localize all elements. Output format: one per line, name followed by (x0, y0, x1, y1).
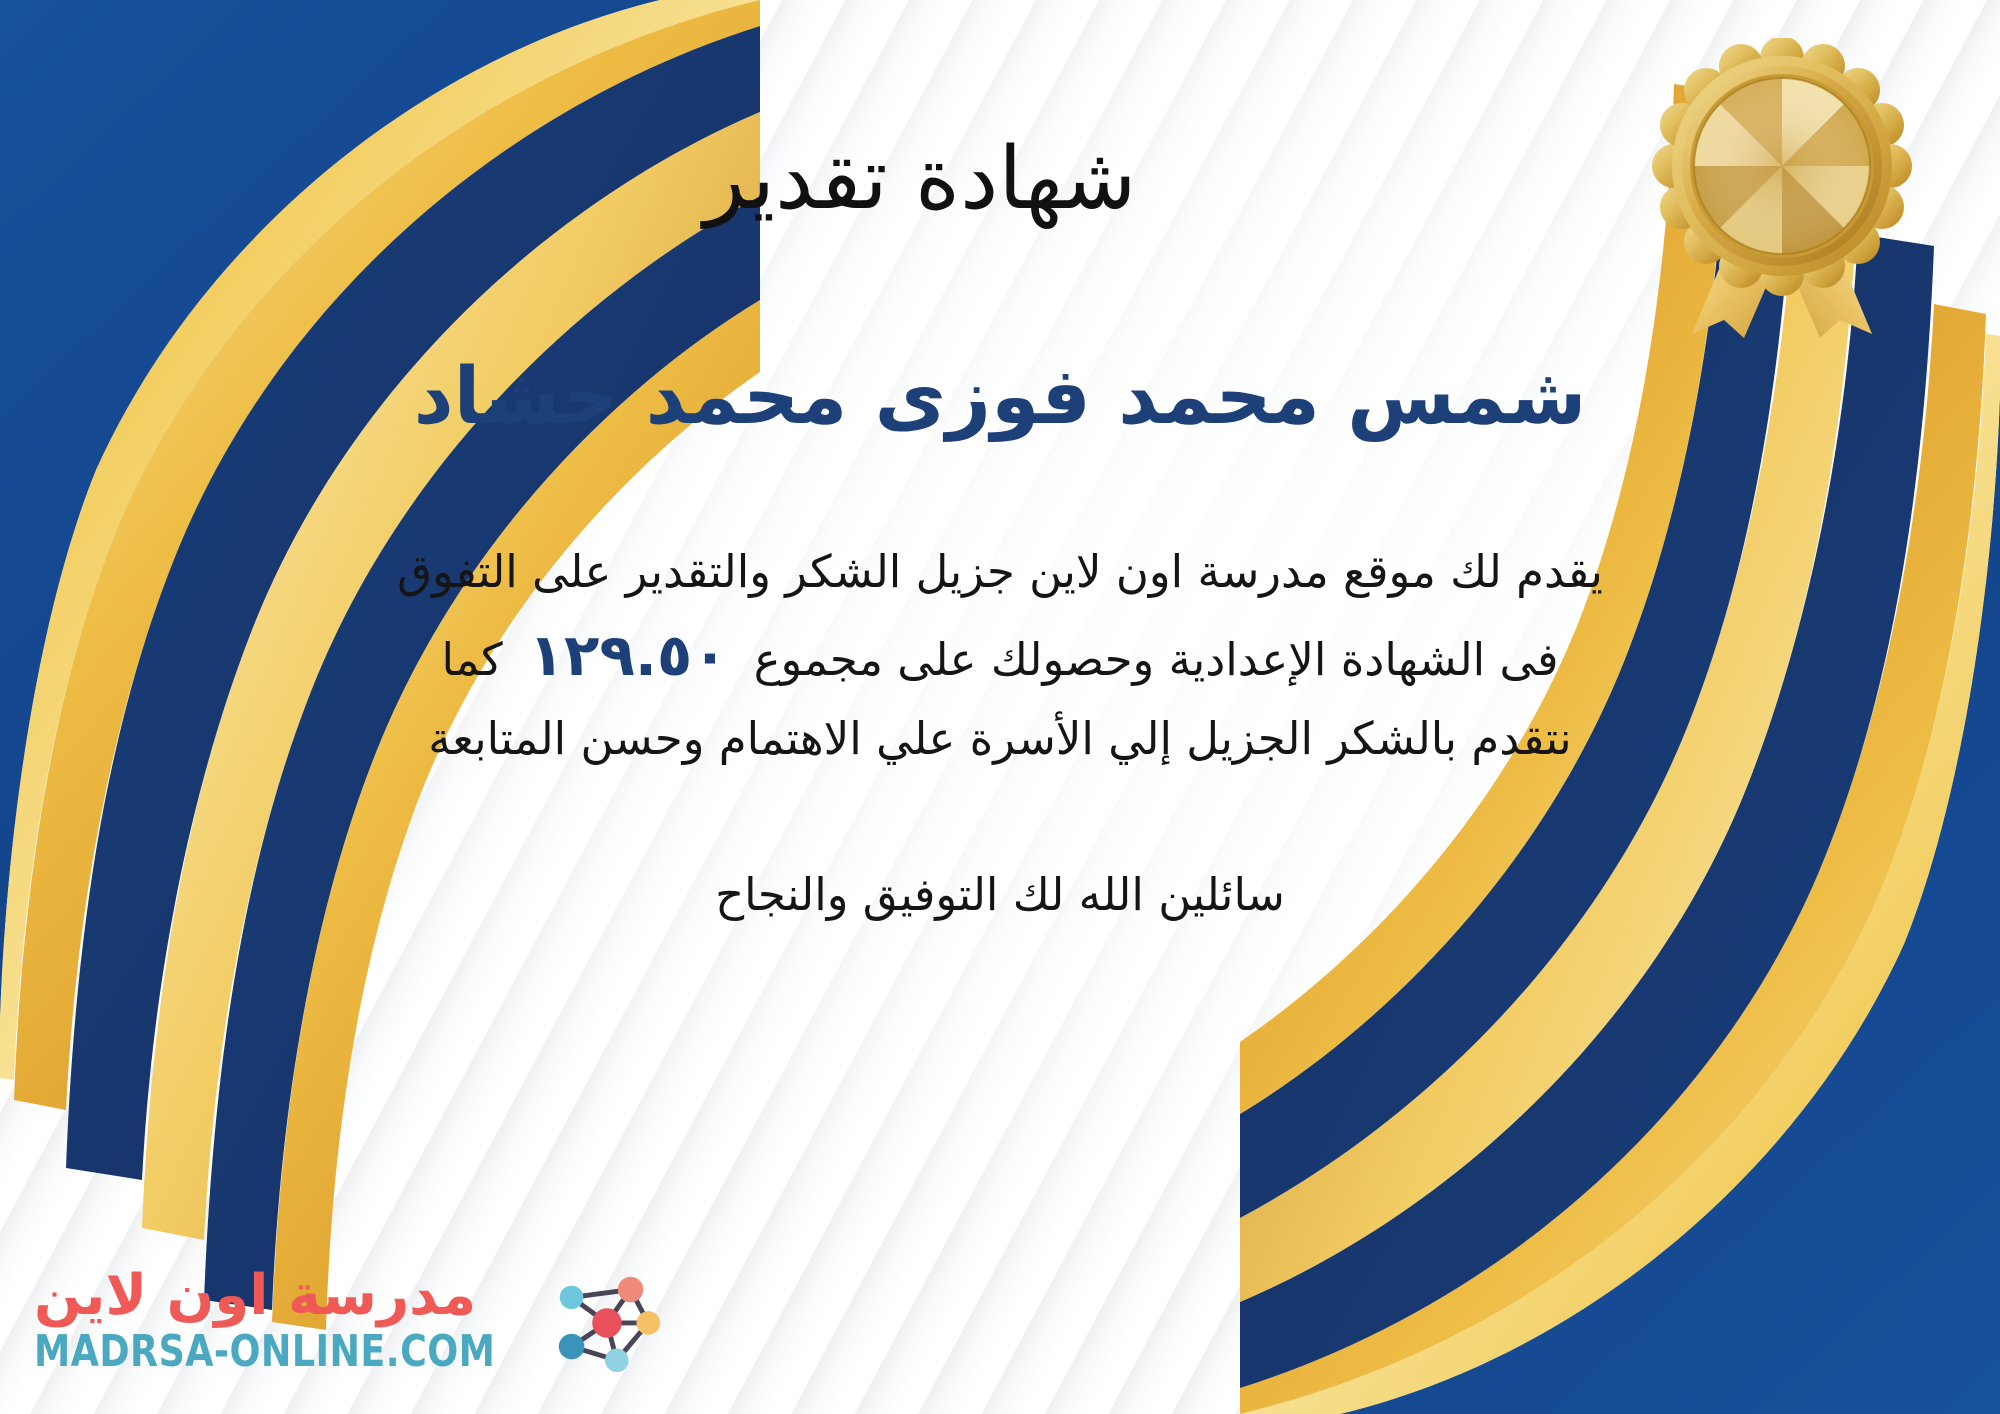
closing-line: سائلين الله لك التوفيق والنجاح (60, 868, 1940, 921)
brand-logo[interactable]: مدرسة اون لاين MADRSA-ONLINE.COM (34, 1262, 664, 1380)
page-title: شهادة تقدير (0, 130, 2000, 229)
brand-text-block: مدرسة اون لاين MADRSA-ONLINE.COM (34, 1268, 536, 1374)
body-line-2-prefix: فى الشهادة الإعدادية وحصولك على مجموع (754, 633, 1559, 686)
certificate-page: شهادة تقدير شمس محمد فوزى محمد حشاد يقدم… (0, 0, 2000, 1414)
brand-arabic-name: مدرسة اون لاين (34, 1268, 476, 1324)
score-value: ١٢٩.٥٠ (503, 621, 754, 689)
body-line-1: يقدم لك موقع مدرسة اون لاين جزيل الشكر و… (60, 536, 1940, 609)
body-line-2-suffix: كما (442, 633, 503, 686)
certificate-body: يقدم لك موقع مدرسة اون لاين جزيل الشكر و… (60, 536, 1940, 776)
body-line-2: فى الشهادة الإعدادية وحصولك على مجموع١٢٩… (60, 609, 1940, 703)
network-nodes-icon (546, 1262, 664, 1380)
body-line-3: نتقدم بالشكر الجزيل إلي الأسرة علي الاهت… (60, 703, 1940, 776)
brand-website: MADRSA-ONLINE.COM (34, 1330, 495, 1374)
certificate-content: شهادة تقدير شمس محمد فوزى محمد حشاد يقدم… (0, 0, 2000, 1414)
recipient-name: شمس محمد فوزى محمد حشاد (0, 351, 2000, 445)
